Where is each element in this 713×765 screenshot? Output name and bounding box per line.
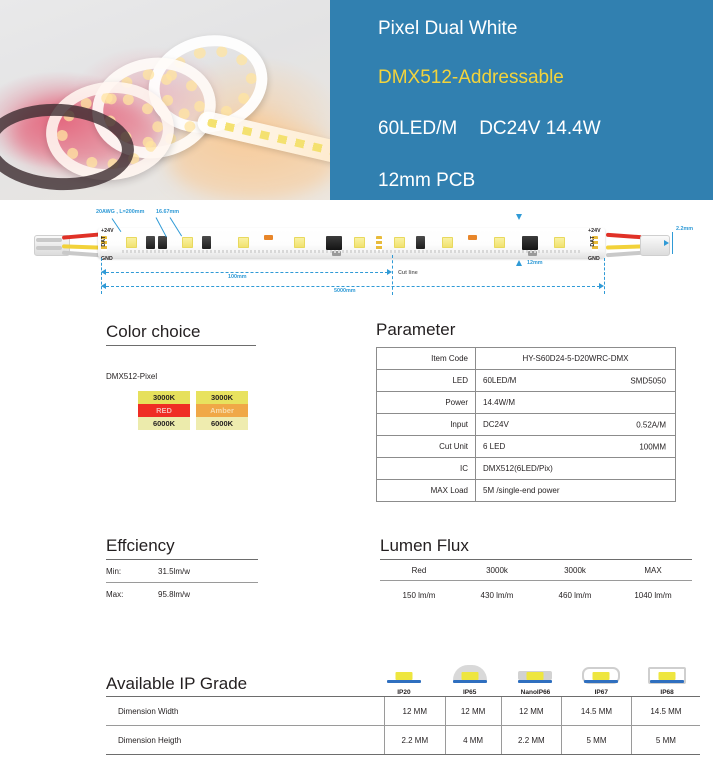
strip-width-label: 12mm: [527, 260, 543, 266]
dim-extension-end: [604, 258, 605, 294]
hero-banner: Pixel Dual White DMX512-Addressable 60LE…: [0, 0, 713, 200]
pitch-annotation: 16.67mm: [156, 209, 179, 215]
driver-ic: [158, 236, 167, 249]
driver-ic: [146, 236, 155, 249]
parameter-value: 60LED/MSMD5050: [476, 370, 676, 392]
color-swatch-group: 3000K RED 6000K 3000K Amber 6000K: [138, 391, 256, 430]
ip-ip20-icon: [371, 665, 437, 687]
table-row: InputDC24V0.52A/M: [377, 414, 676, 436]
table-row: Power14.4W/M: [377, 392, 676, 414]
parameter-value: 14.4W/M: [476, 392, 676, 414]
swatch-column: 3000K Amber 6000K: [196, 391, 248, 430]
efficiency-max-value: 95.8lm/w: [158, 590, 190, 599]
led-chip: [554, 237, 565, 248]
lumen-flux-section: Lumen Flux Red3000k3000kMAX 150 lm/m430 …: [380, 536, 692, 600]
pin-label-gnd: GND: [101, 256, 113, 262]
ip-grade-table: Dimension Width 12 MM12 MM12 MM14.5 MM14…: [106, 696, 700, 755]
led-chip: [126, 237, 137, 248]
ip-grade-title-cell: Available IP Grade: [106, 674, 371, 696]
table-row: Dimension Width 12 MM12 MM12 MM14.5 MM14…: [106, 697, 700, 726]
pin-label-dat: DAT: [590, 236, 596, 247]
wire-red: [62, 232, 102, 239]
ip-ip68-icon: [634, 665, 700, 687]
swatch-3000k[interactable]: 3000K: [196, 391, 248, 404]
swatch-red[interactable]: RED: [138, 404, 190, 417]
led-strip-pcb: [98, 228, 605, 258]
ip-grade-title: Available IP Grade: [106, 674, 371, 694]
swatch-6000k[interactable]: 6000K: [138, 417, 190, 430]
pin-label-dat: DAT: [101, 236, 107, 247]
swatch-amber[interactable]: Amber: [196, 404, 248, 417]
led-chip: [394, 237, 405, 248]
parameter-value-secondary: SMD5050: [630, 376, 666, 385]
color-choice-section: Color choice DMX512-Pixel 3000K RED 6000…: [106, 322, 256, 430]
parameter-value: HY-S60D24-5-D20WRC-DMX: [476, 348, 676, 370]
ip-dimension-value: 5 MM: [631, 726, 700, 755]
pin-label-24v: +24V: [588, 228, 601, 234]
wire-spec-annotation: 20AWG , L=200mm: [96, 209, 144, 215]
swatch-column: 3000K RED 6000K: [138, 391, 190, 430]
ip-grade-label: IP20: [371, 689, 437, 696]
page-title: Pixel Dual White: [378, 18, 517, 40]
lumen-flux-values: 150 lm/m430 lm/m460 lm/m1040 lm/m: [380, 581, 692, 600]
resistor: [468, 235, 477, 240]
parameter-label: Input: [377, 414, 476, 436]
efficiency-row-min: Min: 31.5lm/w: [106, 560, 258, 582]
solder-pad: [376, 236, 382, 251]
parameter-label: IC: [377, 458, 476, 480]
ip-ip67-icon: [568, 665, 634, 687]
lumen-flux-value: 150 lm/m: [380, 581, 458, 600]
efficiency-max-label: Max:: [106, 590, 158, 599]
dim-line-cut: [106, 272, 388, 273]
ip-grade-nanoip66[interactable]: NanoIP66: [503, 665, 569, 696]
hero-specs: 60LED/MDC24V 14.4W: [378, 118, 601, 140]
thickness-arrow: [664, 240, 669, 246]
ip-dimension-value: 12 MM: [385, 697, 446, 726]
swatch-3000k[interactable]: 3000K: [138, 391, 190, 404]
efficiency-row-max: Max: 95.8lm/w: [106, 583, 258, 605]
parameter-label: Power: [377, 392, 476, 414]
efficiency-title: Effciency: [106, 536, 258, 556]
ip-dimension-value: 14.5 MM: [562, 697, 632, 726]
parameter-table: Item CodeHY-S60D24-5-D20WRC-DMXLED60LED/…: [376, 347, 676, 502]
wire-grey: [36, 246, 62, 250]
total-length-label: 5000mm: [334, 288, 356, 294]
wire-grey: [36, 238, 62, 242]
lumen-flux-value: 460 lm/m: [536, 581, 614, 600]
led-chip: [294, 237, 305, 248]
lumen-flux-header: 3000k: [458, 560, 536, 580]
strip-thickness-label: 2.2mm: [676, 226, 693, 232]
led-chip: [238, 237, 249, 248]
driver-ic: [416, 236, 425, 249]
table-row: Dimension Heigth 2.2 MM4 MM2.2 MM5 MM5 M…: [106, 726, 700, 755]
table-row: Item CodeHY-S60D24-5-D20WRC-DMX: [377, 348, 676, 370]
swatch-6000k[interactable]: 6000K: [196, 417, 248, 430]
dim-extension-cut: [392, 255, 393, 295]
section-divider: [106, 345, 256, 346]
thickness-tick: [672, 232, 673, 254]
table-row: MAX Load5M /single-end power: [377, 480, 676, 502]
lumen-flux-headers: Red3000k3000kMAX: [380, 560, 692, 580]
ip-row-label: Dimension Heigth: [106, 726, 385, 755]
ip-grade-section: Available IP Grade IP20IP65NanoIP66IP67I…: [106, 656, 700, 755]
ip-grade-ip20[interactable]: IP20: [371, 665, 437, 696]
hero-spec-pcb: 12mm PCB: [378, 170, 475, 192]
wire-red: [606, 233, 642, 240]
ip-grade-ip67[interactable]: IP67: [568, 665, 634, 696]
color-choice-label: DMX512-Pixel: [106, 372, 256, 381]
led-chip: [494, 237, 505, 248]
ip-grade-label: IP68: [634, 689, 700, 696]
parameter-section: Parameter Item CodeHY-S60D24-5-D20WRC-DM…: [376, 320, 676, 502]
lumen-flux-header: 3000k: [536, 560, 614, 580]
led-chip: [442, 237, 453, 248]
ip-grade-label: IP67: [568, 689, 634, 696]
ip-ip65-icon: [437, 665, 503, 687]
parameter-value: 5M /single-end power: [476, 480, 676, 502]
ip-dimension-value: 12 MM: [445, 697, 501, 726]
hero-spec-led: 60LED/M: [378, 118, 457, 139]
ip-dimension-value: 4 MM: [445, 726, 501, 755]
ip-dimension-value: 2.2 MM: [501, 726, 562, 755]
lumen-flux-title: Lumen Flux: [380, 536, 692, 556]
ip-dimension-value: 12 MM: [501, 697, 562, 726]
pin-label-gnd: GND: [588, 256, 600, 262]
dim-arrow-left: [101, 269, 106, 275]
pin-label-24v: +24V: [101, 228, 114, 234]
table-row: LED60LED/MSMD5050: [377, 370, 676, 392]
led-chip: [354, 237, 365, 248]
efficiency-min-label: Min:: [106, 567, 158, 576]
hero-spec-voltage: DC24V 14.4W: [479, 118, 600, 139]
table-row: ICDMX512(6LED/Pix): [377, 458, 676, 480]
width-arrow-bottom: [516, 260, 522, 266]
color-choice-title: Color choice: [106, 322, 256, 342]
ip-icon-row: IP20IP65NanoIP66IP67IP68: [371, 665, 700, 696]
lumen-flux-header: Red: [380, 560, 458, 580]
efficiency-min-value: 31.5lm/w: [158, 567, 190, 576]
lumen-flux-header: MAX: [614, 560, 692, 580]
ip-dimension-value: 14.5 MM: [631, 697, 700, 726]
parameter-label: Item Code: [377, 348, 476, 370]
lumen-flux-value: 1040 lm/m: [614, 581, 692, 600]
parameter-label: LED: [377, 370, 476, 392]
ip-grade-label: IP65: [437, 689, 503, 696]
ip-nanoip66-icon: [503, 665, 569, 687]
parameter-label: Cut Unit: [377, 436, 476, 458]
wire-grey: [606, 251, 642, 258]
ip-dimension-value: 5 MM: [562, 726, 632, 755]
ip-grade-ip65[interactable]: IP65: [437, 665, 503, 696]
parameter-value: 6 LED100MM: [476, 436, 676, 458]
table-row: Cut Unit6 LED100MM: [377, 436, 676, 458]
wire-yellow: [606, 244, 642, 249]
ip-row-label: Dimension Width: [106, 697, 385, 726]
strip-dimension-diagram: +24V DAT GND +24V DAT GND 20AWG , L=200m…: [0, 200, 713, 305]
ip-dimension-value: 2.2 MM: [385, 726, 446, 755]
parameter-value-secondary: 100MM: [639, 442, 666, 451]
dim-line-total: [106, 286, 600, 287]
driver-ic: [326, 236, 342, 250]
resistor: [264, 235, 273, 240]
lumen-flux-value: 430 lm/m: [458, 581, 536, 600]
product-photo: [0, 0, 330, 200]
parameter-value: DC24V0.52A/M: [476, 414, 676, 436]
driver-ic: [202, 236, 211, 249]
pcb-dot-row: [122, 250, 582, 253]
hero-subtitle: DMX512-Addressable: [378, 67, 564, 89]
ip-grade-header: Available IP Grade IP20IP65NanoIP66IP67I…: [106, 656, 700, 696]
dim-arrow-right: [599, 283, 604, 289]
parameter-label: MAX Load: [377, 480, 476, 502]
cut-length-label: 100mm: [228, 274, 247, 280]
efficiency-section: Effciency Min: 31.5lm/w Max: 95.8lm/w: [106, 536, 258, 605]
parameter-value-secondary: 0.52A/M: [636, 420, 666, 429]
led-chip: [182, 237, 193, 248]
ip-grade-label: NanoIP66: [503, 689, 569, 696]
dim-arrow-right: [387, 269, 392, 275]
cut-line-label: Cut line: [398, 270, 418, 276]
wire-grey: [62, 251, 102, 258]
width-arrow-top: [516, 214, 522, 220]
driver-ic: [522, 236, 538, 250]
hero-text-panel: Pixel Dual White DMX512-Addressable 60LE…: [330, 0, 713, 200]
ip-grade-ip68[interactable]: IP68: [634, 665, 700, 696]
parameter-title: Parameter: [376, 320, 676, 340]
parameter-value: DMX512(6LED/Pix): [476, 458, 676, 480]
dim-arrow-left: [101, 283, 106, 289]
